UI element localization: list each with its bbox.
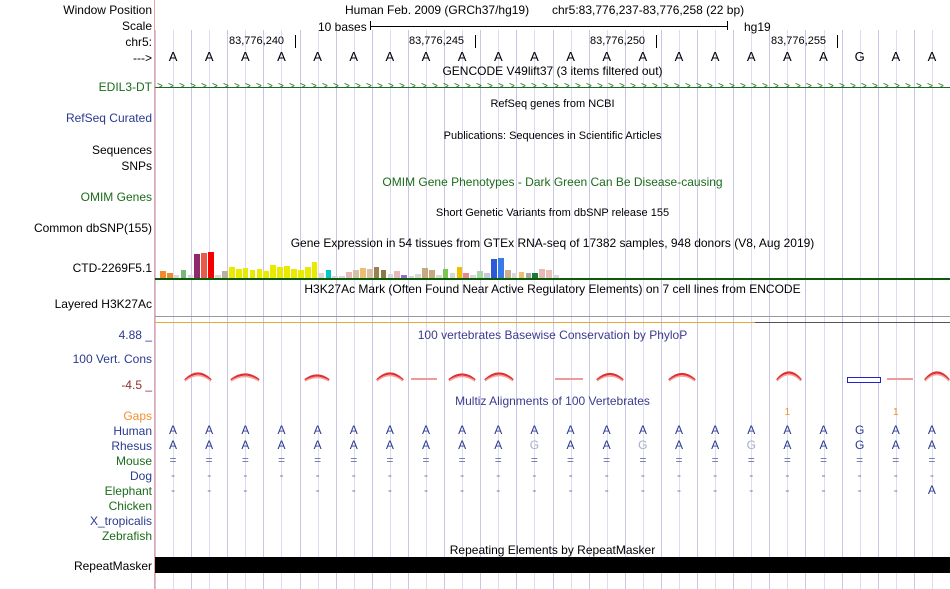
alignment-base: A: [300, 439, 336, 451]
alignment-base: -: [372, 484, 408, 496]
alignment-base: A: [625, 424, 661, 436]
conservation-flat-bar: [411, 378, 437, 380]
alignment-base: -: [300, 469, 336, 481]
alignment-base: G: [842, 439, 878, 451]
gtex-tissue-bar: [491, 259, 497, 278]
alignment-base: A: [553, 424, 589, 436]
strand-arrow-icon: >: [619, 82, 625, 92]
alignment-base: =: [408, 454, 444, 466]
gtex-tissue-bar: [270, 265, 276, 278]
gtex-tissue-bar: [229, 267, 235, 278]
alignment-base: G: [733, 439, 769, 451]
strand-arrow-icon: >: [663, 82, 669, 92]
alignment-base: -: [553, 484, 589, 496]
scale-bar-cap-right: [727, 21, 728, 30]
alignment-base: -: [769, 469, 805, 481]
strand-arrow-icon: >: [509, 82, 515, 92]
alignment-base: G: [625, 439, 661, 451]
gtex-tissue-bar: [194, 254, 200, 278]
grid-line-minor: [209, 30, 210, 589]
alignment-base: A: [589, 424, 625, 436]
label-gaps: Gaps: [0, 410, 152, 422]
phylop-conservation-plot[interactable]: [155, 340, 950, 395]
grid-line: [878, 30, 879, 589]
track-title-omim: OMIM Gene Phenotypes - Dark Green Can Be…: [155, 177, 950, 188]
gtex-baseline: [155, 278, 950, 280]
grid-line: [625, 30, 626, 589]
grid-line: [408, 30, 409, 589]
grid-line-minor: [607, 30, 608, 589]
sequence-base: A: [336, 50, 372, 63]
sequence-base: A: [408, 50, 444, 63]
alignment-base: =: [516, 454, 552, 466]
alignment-base: -: [769, 484, 805, 496]
track-title-gtex: Gene Expression in 54 tissues from GTEx …: [155, 238, 950, 249]
alignment-base: G: [842, 424, 878, 436]
ruler-position-label: 83,776,240: [229, 36, 284, 47]
sequence-base: A: [227, 50, 263, 63]
gtex-tissue-bar: [381, 270, 387, 278]
alignment-base: A: [191, 424, 227, 436]
alignment-base: -: [516, 469, 552, 481]
grid-line-minor: [281, 30, 282, 589]
grid-line-minor: [390, 30, 391, 589]
sequence-base: A: [697, 50, 733, 63]
strand-arrow-icon: >: [388, 82, 394, 92]
track-title-repeatmasker: Repeating Elements by RepeatMasker: [155, 545, 950, 556]
strand-arrow-icon: >: [289, 82, 295, 92]
scale-bar-line: [370, 26, 727, 27]
alignment-base: =: [372, 454, 408, 466]
strand-arrow-icon: >: [630, 82, 636, 92]
alignment-base: A: [553, 439, 589, 451]
alignment-base: -: [805, 484, 841, 496]
gtex-expression-bars[interactable]: [160, 250, 560, 278]
alignment-base: -: [625, 469, 661, 481]
alignment-base: =: [227, 454, 263, 466]
assembly-title: Human Feb. 2009 (GRCh37/hg19): [345, 3, 529, 17]
sequence-base: A: [516, 50, 552, 63]
sequence-base: A: [661, 50, 697, 63]
alignment-base: =: [589, 454, 625, 466]
alignment-base: A: [878, 424, 914, 436]
ruler-tick: [837, 35, 838, 48]
conservation-arc: [483, 369, 515, 382]
alignment-base: -: [589, 469, 625, 481]
alignment-base: A: [408, 439, 444, 451]
sequence-base: G: [842, 50, 878, 63]
alignment-base: A: [914, 439, 950, 451]
alignment-base: A: [300, 424, 336, 436]
strand-arrow-icon: >: [740, 82, 746, 92]
alignment-base: -: [878, 484, 914, 496]
separator-above-conservation: [155, 316, 950, 317]
grid-line-minor: [173, 30, 174, 589]
alignment-base: A: [408, 424, 444, 436]
sequence-base: A: [263, 50, 299, 63]
sequence-base: A: [805, 50, 841, 63]
strand-arrow-icon: >: [377, 82, 383, 92]
species-label-elephant[interactable]: Elephant: [0, 485, 152, 497]
alignment-base: -: [300, 484, 336, 496]
conservation-arc: [303, 373, 331, 382]
label-window-position: Window Position: [0, 4, 152, 16]
alignment-base: -: [191, 469, 227, 481]
strand-arrow-icon: >: [927, 82, 933, 92]
alignment-base: =: [733, 454, 769, 466]
track-title-gencode: GENCODE V49lift37 (3 items filtered out): [155, 66, 950, 77]
alignment-base: =: [805, 454, 841, 466]
alignment-base: =: [336, 454, 372, 466]
conservation-arc: [775, 367, 803, 382]
strand-arrow-icon: >: [520, 82, 526, 92]
grid-line-minor: [751, 30, 752, 589]
repeatmasker-feature-bar[interactable]: [155, 557, 950, 573]
conservation-arc: [447, 371, 477, 382]
grid-line-minor: [462, 30, 463, 589]
strand-arrow-icon: >: [454, 82, 460, 92]
grid-line-minor: [571, 30, 572, 589]
species-label-rhesus[interactable]: Rhesus: [0, 440, 152, 452]
alignment-base: A: [697, 439, 733, 451]
strand-arrow-icon: >: [421, 82, 427, 92]
strand-arrow-icon: >: [399, 82, 405, 92]
strand-arrow-icon: >: [894, 82, 900, 92]
species-label-dog[interactable]: Dog: [0, 470, 152, 482]
strand-arrow-icon: >: [157, 82, 163, 92]
grid-line-minor: [318, 30, 319, 589]
strand-arrow-icon: >: [641, 82, 647, 92]
label-refseq-curated[interactable]: RefSeq Curated: [0, 112, 152, 124]
strand-arrow-icon: >: [586, 82, 592, 92]
grid-line: [444, 30, 445, 589]
strand-arrow-icon: >: [432, 82, 438, 92]
species-label-chicken[interactable]: Chicken: [0, 500, 152, 512]
alignment-base: A: [480, 424, 516, 436]
alignment-base: A: [155, 424, 191, 436]
strand-arrow-icon: >: [278, 82, 284, 92]
strand-arrow-icon: >: [729, 82, 735, 92]
gtex-tissue-bar: [360, 268, 366, 278]
sequence-base: A: [300, 50, 336, 63]
strand-arrow-icon: >: [938, 82, 944, 92]
gtex-tissue-bar: [243, 268, 249, 278]
track-title-multiz: Multiz Alignments of 100 Vertebrates: [155, 396, 950, 407]
alignment-base: A: [733, 424, 769, 436]
grid-line: [227, 30, 228, 589]
strand-arrow-icon: >: [883, 82, 889, 92]
strand-arrow-icon: >: [531, 82, 537, 92]
alignment-base: -: [480, 484, 516, 496]
label-chrom: chr5:: [0, 36, 152, 48]
alignment-base: -: [191, 484, 227, 496]
conservation-upper-rule-orange: [155, 322, 755, 323]
species-label-human[interactable]: Human: [0, 425, 152, 437]
strand-arrow-icon: >: [322, 82, 328, 92]
strand-arrow-icon: >: [333, 82, 339, 92]
alignment-base: -: [263, 469, 299, 481]
strand-arrow-icon: >: [223, 82, 229, 92]
label-snps[interactable]: SNPs: [0, 160, 152, 172]
alignment-base: =: [300, 454, 336, 466]
ruler-position-label: 83,776,245: [409, 36, 464, 47]
strand-arrow-icon: >: [850, 82, 856, 92]
track-title-publications: Publications: Sequences in Scientific Ar…: [155, 131, 950, 142]
alignment-base: A: [263, 424, 299, 436]
alignment-base: =: [842, 454, 878, 466]
strand-arrow-icon: >: [861, 82, 867, 92]
label-edil3-dt[interactable]: EDIL3-DT: [0, 81, 152, 93]
alignment-base: -: [625, 484, 661, 496]
strand-arrow-icon: >: [751, 82, 757, 92]
conservation-arc: [375, 369, 405, 382]
strand-arrow-icon: >: [806, 82, 812, 92]
strand-arrow-icon: >: [916, 82, 922, 92]
sequence-base: A: [444, 50, 480, 63]
alignment-base: -: [733, 469, 769, 481]
gtex-tissue-bar: [505, 270, 511, 278]
grid-line-minor: [245, 30, 246, 589]
alignment-base: -: [697, 469, 733, 481]
ruler-tick: [475, 35, 476, 48]
conservation-flat-bar: [555, 378, 583, 380]
gtex-tissue-bar: [394, 271, 400, 278]
alignment-base: =: [769, 454, 805, 466]
strand-arrow-icon: >: [817, 82, 823, 92]
strand-arrow-icon: >: [168, 82, 174, 92]
gtex-tissue-bar: [429, 270, 435, 278]
gtex-tissue-bar: [160, 271, 166, 278]
gtex-tissue-bar: [312, 262, 318, 278]
strand-arrow-icon: >: [245, 82, 251, 92]
track-title-refseq: RefSeq genes from NCBI: [155, 99, 950, 110]
sequence-base: A: [914, 50, 950, 63]
alignment-base: A: [336, 424, 372, 436]
sequence-base: A: [625, 50, 661, 63]
strand-arrow-icon: >: [905, 82, 911, 92]
grid-line: [914, 30, 915, 589]
gtex-tissue-bar: [277, 267, 283, 278]
alignment-base: A: [372, 439, 408, 451]
alignment-base: -: [155, 484, 191, 496]
grid-line-minor: [643, 30, 644, 589]
gtex-tissue-bar: [422, 268, 428, 278]
strand-arrow-icon: >: [311, 82, 317, 92]
strand-arrow-icon: >: [564, 82, 570, 92]
label-repeatmasker[interactable]: RepeatMasker: [0, 560, 152, 572]
label-sequences[interactable]: Sequences: [0, 144, 152, 156]
alignment-base: =: [444, 454, 480, 466]
alignment-base: =: [480, 454, 516, 466]
label-cons-max: 4.88 _: [0, 329, 152, 341]
label-omim-genes[interactable]: OMIM Genes: [0, 191, 152, 203]
alignment-base: -: [842, 484, 878, 496]
alignment-base: -: [553, 469, 589, 481]
gtex-tissue-bar: [477, 271, 483, 278]
strand-arrow-icon: >: [476, 82, 482, 92]
alignment-base: A: [227, 439, 263, 451]
alignment-base: -: [444, 484, 480, 496]
alignment-base: A: [589, 439, 625, 451]
alignment-base: A: [372, 424, 408, 436]
strand-arrow-icon: >: [652, 82, 658, 92]
ruler-position-label: 83,776,250: [590, 36, 645, 47]
strand-arrow-icon: >: [487, 82, 493, 92]
species-label-zebrafish[interactable]: Zebrafish: [0, 530, 152, 542]
label-common-dbsnp[interactable]: Common dbSNP(155): [0, 222, 152, 234]
grid-line: [480, 30, 481, 589]
ruler-position-label: 83,776,255: [771, 36, 826, 47]
grid-line-minor: [824, 30, 825, 589]
alignment-base: =: [553, 454, 589, 466]
grid-line: [842, 30, 843, 589]
track-title-h3k27ac: H3K27Ac Mark (Often Found Near Active Re…: [155, 284, 950, 295]
strand-arrow-icon: >: [784, 82, 790, 92]
strand-arrow-icon: >: [212, 82, 218, 92]
strand-arrow-icon: >: [344, 82, 350, 92]
alignment-base: A: [878, 439, 914, 451]
label-100-vert-cons[interactable]: 100 Vert. Cons: [0, 353, 152, 365]
grid-line-minor: [896, 30, 897, 589]
scale-bar-label: 10 bases: [318, 20, 367, 34]
gtex-tissue-bar: [250, 270, 256, 278]
alignment-base: A: [516, 424, 552, 436]
position-readout[interactable]: chr5:83,776,237-83,776,258 (22 bp): [552, 3, 744, 17]
grid-line: [769, 30, 770, 589]
strand-arrow-icon: >: [542, 82, 548, 92]
strand-arrow-icon: >: [465, 82, 471, 92]
alignment-base: A: [444, 424, 480, 436]
gtex-tissue-bar: [257, 269, 263, 278]
alignment-base: A: [914, 424, 950, 436]
strand-arrow-icon: >: [597, 82, 603, 92]
conservation-arc: [183, 369, 213, 382]
alignment-base: G: [516, 439, 552, 451]
strand-arrow-icon: >: [179, 82, 185, 92]
species-label-mouse[interactable]: Mouse: [0, 455, 152, 467]
alignment-base: -: [589, 484, 625, 496]
strand-arrow-icon: >: [498, 82, 504, 92]
sequence-base: A: [589, 50, 625, 63]
alignment-base: =: [263, 454, 299, 466]
grid-line: [589, 30, 590, 589]
sequence-base: A: [553, 50, 589, 63]
strand-arrow-icon: >: [608, 82, 614, 92]
alignment-base: A: [805, 424, 841, 436]
strand-arrow-icon: >: [443, 82, 449, 92]
grid-line-minor: [860, 30, 861, 589]
alignment-base: A: [769, 424, 805, 436]
gtex-tissue-bar: [201, 253, 207, 278]
alignment-base: A: [336, 439, 372, 451]
conservation-arc: [923, 367, 950, 382]
ruler-tick: [656, 35, 657, 48]
strand-arrow-icon: >: [828, 82, 834, 92]
strand-arrow-icon: >: [674, 82, 680, 92]
strand-arrow-icon: >: [267, 82, 273, 92]
alignment-base: A: [227, 424, 263, 436]
grid-line: [155, 30, 156, 589]
alignment-base: -: [372, 469, 408, 481]
alignment-base: -: [842, 469, 878, 481]
gtex-tissue-bar: [546, 270, 552, 278]
gtex-tissue-bar: [263, 271, 269, 278]
alignment-base: =: [661, 454, 697, 466]
alignment-base: -: [336, 469, 372, 481]
strand-arrow-icon: >: [795, 82, 801, 92]
alignment-base: =: [155, 454, 191, 466]
grid-line: [661, 30, 662, 589]
alignment-base: A: [444, 439, 480, 451]
gtex-tissue-bar: [457, 267, 463, 278]
sequence-base: A: [769, 50, 805, 63]
alignment-base: -: [336, 484, 372, 496]
grid-line-minor: [787, 30, 788, 589]
gtex-tissue-bar: [284, 266, 290, 278]
grid-line: [805, 30, 806, 589]
alignment-base: A: [661, 424, 697, 436]
conservation-negative-bar: [847, 377, 881, 383]
grid-line: [336, 30, 337, 589]
grid-line-minor: [932, 30, 933, 589]
gtex-tissue-bar: [443, 269, 449, 278]
alignment-base: A: [769, 439, 805, 451]
label-scale: Scale: [0, 20, 152, 32]
strand-arrow-icon: >: [839, 82, 845, 92]
gap-marker: 1: [878, 408, 914, 418]
grid-line: [553, 30, 554, 589]
strand-arrow-icon: >: [355, 82, 361, 92]
strand-arrow-icon: >: [707, 82, 713, 92]
gtex-tissue-bar: [298, 270, 304, 278]
sequence-base: A: [878, 50, 914, 63]
grid-lines: [155, 30, 950, 589]
alignment-base: A: [914, 484, 950, 496]
gtex-tissue-bar: [374, 267, 380, 278]
strand-arrow-icon: >: [256, 82, 262, 92]
label-ctd-2269f5-1[interactable]: CTD-2269F5.1: [0, 262, 152, 274]
alignment-base: -: [408, 484, 444, 496]
alignment-base: -: [914, 469, 950, 481]
genome-browser-view: Window Position Scale chr5: ---> EDIL3-D…: [0, 0, 950, 589]
strand-arrow-icon: >: [872, 82, 878, 92]
alignment-base: -: [661, 469, 697, 481]
grid-line: [516, 30, 517, 589]
grid-line-minor: [715, 30, 716, 589]
strand-arrow-icon: >: [410, 82, 416, 92]
strand-arrow-icon: >: [201, 82, 207, 92]
gtex-tissue-bar: [539, 269, 545, 278]
gtex-tissue-bar: [353, 270, 359, 278]
label-layered-h3k27ac[interactable]: Layered H3K27Ac: [0, 298, 152, 310]
sequence-base: A: [480, 50, 516, 63]
track-title-dbsnp: Short Genetic Variants from dbSNP releas…: [155, 208, 950, 219]
gtex-tissue-bar: [222, 271, 228, 278]
strand-arrow-icon: >: [300, 82, 306, 92]
alignment-base: =: [697, 454, 733, 466]
grid-line: [697, 30, 698, 589]
gtex-tissue-bar: [326, 270, 332, 278]
alignment-base: A: [263, 439, 299, 451]
alignment-base: -: [697, 484, 733, 496]
species-label-x_tropicalis[interactable]: X_tropicalis: [0, 515, 152, 527]
alignment-base: A: [480, 439, 516, 451]
ruler-tick: [295, 35, 296, 48]
alignment-base: =: [914, 454, 950, 466]
alignment-base: -: [444, 469, 480, 481]
conservation-upper-rule-dark: [755, 322, 950, 323]
alignment-base: =: [878, 454, 914, 466]
